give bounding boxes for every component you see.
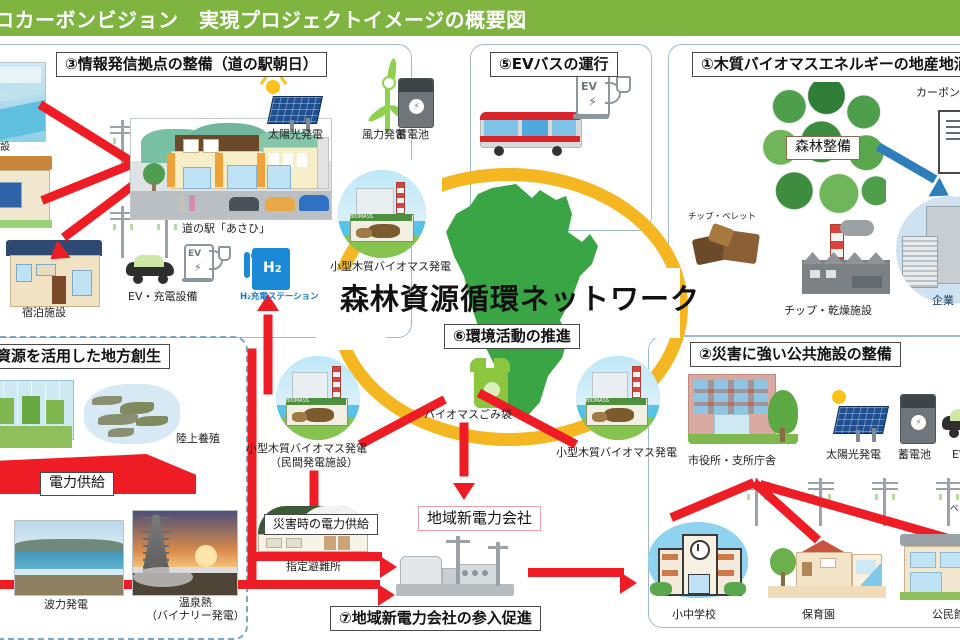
right-clipped-label: ベ [950, 504, 959, 514]
ev-charger-icon: EV ⚡ [574, 70, 634, 130]
chip-drying-facility-label: チップ・乾燥施設 [784, 304, 872, 317]
ev-bus-icon [480, 108, 580, 156]
hot-spring-label-line1: 温泉熱 （バイナリー発電） [146, 596, 245, 622]
biomass-plant-circle-top: BIOMASS [338, 170, 426, 258]
red-arrow-head [453, 483, 475, 500]
sun-icon [832, 390, 846, 404]
biomass-plant-circle-private: BIOMASS [276, 356, 360, 440]
chip-drying-facility-image [796, 224, 896, 296]
designated-shelter-label: 指定避難所 [286, 560, 341, 573]
storage-battery-icon: ⚡ [398, 78, 434, 128]
local-power-company-box: 地域新電力会社 [418, 506, 541, 531]
biomass-plant-right-label: 小型木質バイオマス発電 [556, 446, 677, 459]
red-arrow-head [378, 584, 395, 606]
infographic-canvas: ロカーボンビジョン 実現プロジェクトイメージの概要図 ③情報発信拠点の整備（道の… [0, 0, 960, 640]
chip-pellet-image [690, 222, 770, 270]
section7-header: ⑦地域新電力会社の参入促進 [330, 606, 541, 631]
pool-facility-label: 施設 [0, 142, 10, 154]
ev-charging-equipment-label: EV・充電設備 [128, 290, 197, 303]
solar-power-label: 太陽光発電 [826, 448, 881, 461]
wave-power-image [14, 520, 124, 596]
land-aquaculture-image [84, 384, 180, 450]
city-hall-label: 市役所・支所庁舎 [688, 454, 776, 467]
red-arrow-up-to-h2 [264, 315, 273, 395]
roadside-station-label: 道の駅「あさひ」 [182, 222, 270, 235]
solar-power-label: 太陽光発電 [268, 128, 323, 141]
red-arrow-to-public-facilities [528, 568, 624, 577]
biomass-plant-top-label: 小型木質バイオマス発電 [330, 260, 451, 273]
section4-header: ネ資源を活用した地方創生 [0, 344, 170, 369]
storage-battery-label: 蓄電池 [396, 128, 429, 141]
section2-header: ②災害に強い公共施設の整備 [690, 342, 901, 367]
credit-document-icon [938, 110, 960, 174]
storage-battery-label: 蓄電池 [898, 448, 931, 461]
hot-spring-heat-label: 温泉熱 （バイナリー発電） [146, 596, 245, 622]
section5-header: ⑤EVバスの運行 [490, 52, 618, 77]
substation-image [396, 534, 526, 602]
carbon-credit-label: カーボンクレジット [916, 86, 960, 99]
page-title: ロカーボンビジョン 実現プロジェクトイメージの概要図 [0, 4, 527, 33]
ev-charger-icon: EV ⚡ [182, 244, 228, 290]
elementary-school-label: 小中学校 [672, 608, 716, 621]
company-label: 企業 [932, 294, 954, 307]
biomass-plant-circle-right: BIOMASS [576, 356, 660, 440]
power-pole-icon [934, 478, 960, 526]
pool-facility-image [0, 62, 46, 142]
red-arrow-to-shelter [310, 471, 319, 507]
wave-power-label: 波力発電 [44, 598, 88, 611]
biomass-plant-private-label-1: 小型木質バイオマス発電 [246, 442, 367, 455]
h2-station-icon: H2 [252, 248, 290, 290]
network-title: 森林資源循環ネットワーク [340, 276, 700, 318]
biomass-plant-private-label-2: （民間発電施設） [270, 456, 358, 469]
power-supply-box: 電力供給 [40, 472, 114, 496]
community-building-image [0, 156, 52, 228]
page-title-bar: ロカーボンビジョン 実現プロジェクトイメージの概要図 [0, 0, 960, 36]
ev-car-icon [938, 406, 960, 436]
storage-battery-icon: ⚡ [900, 394, 936, 444]
greenhouse-image [0, 380, 72, 452]
section1-header: ①木質バイオマスエネルギーの地産地消 [692, 52, 960, 77]
h2-nozzle-icon [244, 252, 250, 278]
community-center-label: 公民館 [932, 608, 960, 621]
red-arrow-head [620, 572, 637, 594]
nursery-school-image [768, 532, 886, 602]
section3-header: ③情報発信拠点の整備（道の駅朝日） [56, 52, 327, 77]
h2-station-label: H₂充電ステーション [240, 292, 319, 302]
elementary-school-image [648, 522, 748, 606]
sun-icon [266, 80, 280, 94]
nursery-school-label: 保育園 [802, 608, 835, 621]
forest-maintenance-label: 森林整備 [786, 136, 860, 160]
chip-pellet-label: チップ・ペレット [688, 212, 756, 222]
red-arrow-head [380, 556, 397, 578]
ev-car-icon [122, 252, 178, 282]
hot-spring-heat-image [132, 510, 238, 596]
biomass-bag-label: バイオマスごみ袋 [424, 408, 512, 421]
section6-header: ⑥環境活動の推進 [444, 324, 580, 349]
ev-label: EV [952, 448, 960, 461]
land-aquaculture-label: 陸上養殖 [176, 432, 220, 445]
community-center-image [900, 534, 960, 604]
city-hall-image [688, 374, 798, 450]
lodging-facility-label: 宿泊施設 [22, 306, 66, 319]
red-arrow-down-to-power-company [460, 423, 469, 477]
disaster-power-supply-box: 災害時の電力供給 [264, 514, 378, 535]
